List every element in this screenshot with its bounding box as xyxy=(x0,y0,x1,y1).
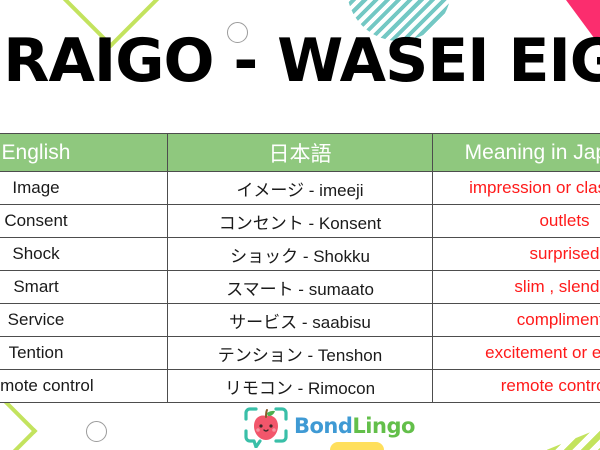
logo-text-lingo: Lingo xyxy=(352,414,415,438)
circle-outline-decoration-bottom xyxy=(86,421,107,442)
cell-english: Remote control xyxy=(0,370,168,403)
cell-japanese: サービス - saabisu xyxy=(168,304,433,337)
cell-meaning: outlets xyxy=(433,205,600,238)
striped-wedge-decoration xyxy=(470,404,600,450)
cell-english: Image xyxy=(0,172,168,205)
logo-yellow-shape xyxy=(330,442,384,450)
table-row: Remote control リモコン - Rimocon remote con… xyxy=(0,370,600,403)
table-row: Smart スマート - sumaato slim , slender xyxy=(0,271,600,304)
table-row: Image イメージ - imeeji impression or classN… xyxy=(0,172,600,205)
column-header-meaning: Meaning in Japanese xyxy=(433,134,600,172)
table-row: Tention テンション - Tenshon excitement or en… xyxy=(0,337,600,370)
cell-japanese: テンション - Tenshon xyxy=(168,337,433,370)
table-header-row: English 日本語 Meaning in Japanese xyxy=(0,134,600,172)
cell-english: Shock xyxy=(0,238,168,271)
cell-japanese: イメージ - imeeji xyxy=(168,172,433,205)
cell-meaning: surprised xyxy=(433,238,600,271)
cell-meaning: slim , slender xyxy=(433,271,600,304)
vocabulary-table: English 日本語 Meaning in Japanese Image イメ… xyxy=(0,133,600,403)
cell-english: Tention xyxy=(0,337,168,370)
cell-japanese: リモコン - Rimocon xyxy=(168,370,433,403)
logo-text-bond: Bond xyxy=(294,414,352,438)
column-header-english: English xyxy=(0,134,168,172)
page-title: IRAIGO - WASEI EIG xyxy=(0,31,600,91)
apple-speech-bubble-icon xyxy=(244,406,288,448)
cell-meaning: impression or className xyxy=(433,172,600,205)
cell-japanese: コンセント - Konsent xyxy=(168,205,433,238)
bondlingo-logo: BondLingo xyxy=(244,406,404,448)
cell-english: Smart xyxy=(0,271,168,304)
table-row: Consent コンセント - Konsent outlets xyxy=(0,205,600,238)
logo-wordmark: BondLingo xyxy=(294,414,415,438)
cell-english: Consent xyxy=(0,205,168,238)
table-row: Shock ショック - Shokku surprised xyxy=(0,238,600,271)
infographic-poster: IRAIGO - WASEI EIG English 日本語 Meaning i… xyxy=(0,0,600,450)
cell-japanese: ショック - Shokku xyxy=(168,238,433,271)
cell-english: Service xyxy=(0,304,168,337)
table-row: Service サービス - saabisu compliments xyxy=(0,304,600,337)
cell-meaning: excitement or energy xyxy=(433,337,600,370)
chevron-right-decoration xyxy=(0,398,38,450)
cell-japanese: スマート - sumaato xyxy=(168,271,433,304)
column-header-japanese: 日本語 xyxy=(168,134,433,172)
cell-meaning: compliments xyxy=(433,304,600,337)
cell-meaning: remote controller xyxy=(433,370,600,403)
